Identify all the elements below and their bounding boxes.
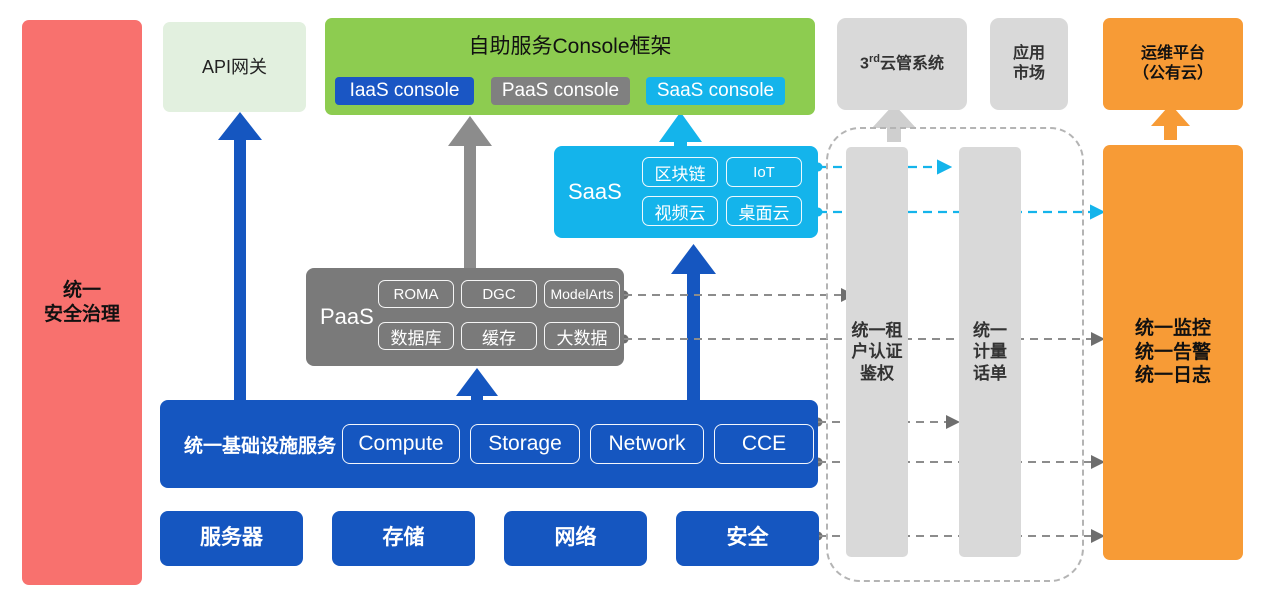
paas-item-database[interactable]: 数据库 <box>378 322 454 350</box>
arrow-infra-to-saas <box>671 244 716 412</box>
saas-item-desktop-cloud-label: 桌面云 <box>739 199 790 224</box>
resource-box-storage-label: 存储 <box>383 525 425 551</box>
infra-item-cce-label: CCE <box>742 432 786 456</box>
infra-item-compute-label: Compute <box>358 432 443 456</box>
chip-paas-console-label: PaaS console <box>502 80 619 102</box>
paas-item-roma-label: ROMA <box>394 286 439 303</box>
arrow-infra-to-apigw <box>218 112 262 408</box>
paas-item-bigdata-label: 大数据 <box>557 324 608 349</box>
node-ops-platform-public-cloud-label: 运维平台 （公有云） <box>1133 44 1213 84</box>
chip-saas-console-label: SaaS console <box>657 80 774 102</box>
panel-self-service-console-framework[interactable]: 自助服务Console框架 IaaS console PaaS console … <box>325 18 815 115</box>
resource-box-server[interactable]: 服务器 <box>160 511 303 566</box>
column-unified-metering-billing[interactable]: 统一 计量 话单 <box>959 147 1021 557</box>
resource-box-server-label: 服务器 <box>200 525 263 551</box>
saas-item-video-cloud[interactable]: 视频云 <box>642 196 718 226</box>
card-paas-label: PaaS <box>320 268 374 366</box>
panel-unified-monitoring-alarm-log[interactable]: 统一监控 统一告警 统一日志 <box>1103 145 1243 560</box>
saas-item-iot[interactable]: IoT <box>726 157 802 187</box>
paas-item-bigdata[interactable]: 大数据 <box>544 322 620 350</box>
card-saas-label: SaaS <box>568 146 622 238</box>
infra-item-network[interactable]: Network <box>590 424 704 464</box>
resource-box-network-label: 网络 <box>555 525 597 551</box>
paas-item-cache-label: 缓存 <box>482 324 516 349</box>
panel-unified-security-governance-label: 统一 安全治理 <box>44 279 120 327</box>
saas-item-desktop-cloud[interactable]: 桌面云 <box>726 196 802 226</box>
paas-item-modelarts[interactable]: ModelArts <box>544 280 620 308</box>
architecture-diagram: 统一 安全治理 API网关 自助服务Console框架 IaaS console… <box>0 0 1265 605</box>
column-unified-tenant-auth[interactable]: 统一租 户认证 鉴权 <box>846 147 908 557</box>
panel-unified-monitoring-alarm-log-label: 统一监控 统一告警 统一日志 <box>1135 317 1211 388</box>
chip-iaas-console-label: IaaS console <box>350 80 460 102</box>
paas-item-dgc[interactable]: DGC <box>461 280 537 308</box>
resource-box-network[interactable]: 网络 <box>504 511 647 566</box>
resource-box-security[interactable]: 安全 <box>676 511 819 566</box>
saas-item-video-cloud-label: 视频云 <box>655 199 706 224</box>
node-application-market[interactable]: 应用 市场 <box>990 18 1068 110</box>
bar-unified-infrastructure-service-label: 统一基础设施服务 <box>184 400 336 488</box>
bar-unified-infrastructure-service[interactable]: 统一基础设施服务 Compute Storage Network CCE <box>160 400 818 488</box>
infra-item-compute[interactable]: Compute <box>342 424 460 464</box>
console-framework-title: 自助服务Console框架 <box>325 30 815 60</box>
third-party-number: 3 <box>860 56 869 73</box>
paas-item-modelarts-label: ModelArts <box>550 286 613 302</box>
saas-item-iot-label: IoT <box>753 164 775 181</box>
dashed-paas-to-auth <box>620 291 854 300</box>
card-paas[interactable]: PaaS ROMA DGC ModelArts 数据库 缓存 大数据 <box>306 268 624 366</box>
paas-item-roma[interactable]: ROMA <box>378 280 454 308</box>
chip-saas-console[interactable]: SaaS console <box>646 77 785 105</box>
chip-paas-console[interactable]: PaaS console <box>491 77 630 105</box>
saas-item-blockchain[interactable]: 区块链 <box>642 157 718 187</box>
card-saas[interactable]: SaaS 区块链 IoT 视频云 桌面云 <box>554 146 818 238</box>
paas-item-cache[interactable]: 缓存 <box>461 322 537 350</box>
infra-item-network-label: Network <box>608 432 685 456</box>
resource-box-security-label: 安全 <box>727 525 769 551</box>
infra-item-storage-label: Storage <box>488 432 562 456</box>
column-unified-tenant-auth-label: 统一租 户认证 鉴权 <box>852 320 903 384</box>
node-application-market-label: 应用 市场 <box>1013 44 1045 84</box>
saas-item-blockchain-label: 区块链 <box>655 160 706 185</box>
infra-item-storage[interactable]: Storage <box>470 424 580 464</box>
arrow-paas-to-console <box>448 116 492 269</box>
infra-item-cce[interactable]: CCE <box>714 424 814 464</box>
column-unified-metering-billing-label: 统一 计量 话单 <box>973 320 1007 384</box>
node-api-gateway[interactable]: API网关 <box>163 22 306 112</box>
paas-item-dgc-label: DGC <box>482 286 515 303</box>
node-third-party-cloud-management-label: 3rd云管系统 <box>860 53 944 74</box>
chip-iaas-console[interactable]: IaaS console <box>335 77 474 105</box>
third-party-rest: 云管系统 <box>880 56 944 73</box>
resource-box-storage[interactable]: 存储 <box>332 511 475 566</box>
panel-unified-security-governance[interactable]: 统一 安全治理 <box>22 20 142 585</box>
paas-item-database-label: 数据库 <box>391 324 442 349</box>
node-third-party-cloud-management[interactable]: 3rd云管系统 <box>837 18 967 110</box>
node-api-gateway-label: API网关 <box>202 56 267 79</box>
third-party-ordinal-suffix: rd <box>869 53 880 65</box>
node-ops-platform-public-cloud[interactable]: 运维平台 （公有云） <box>1103 18 1243 110</box>
